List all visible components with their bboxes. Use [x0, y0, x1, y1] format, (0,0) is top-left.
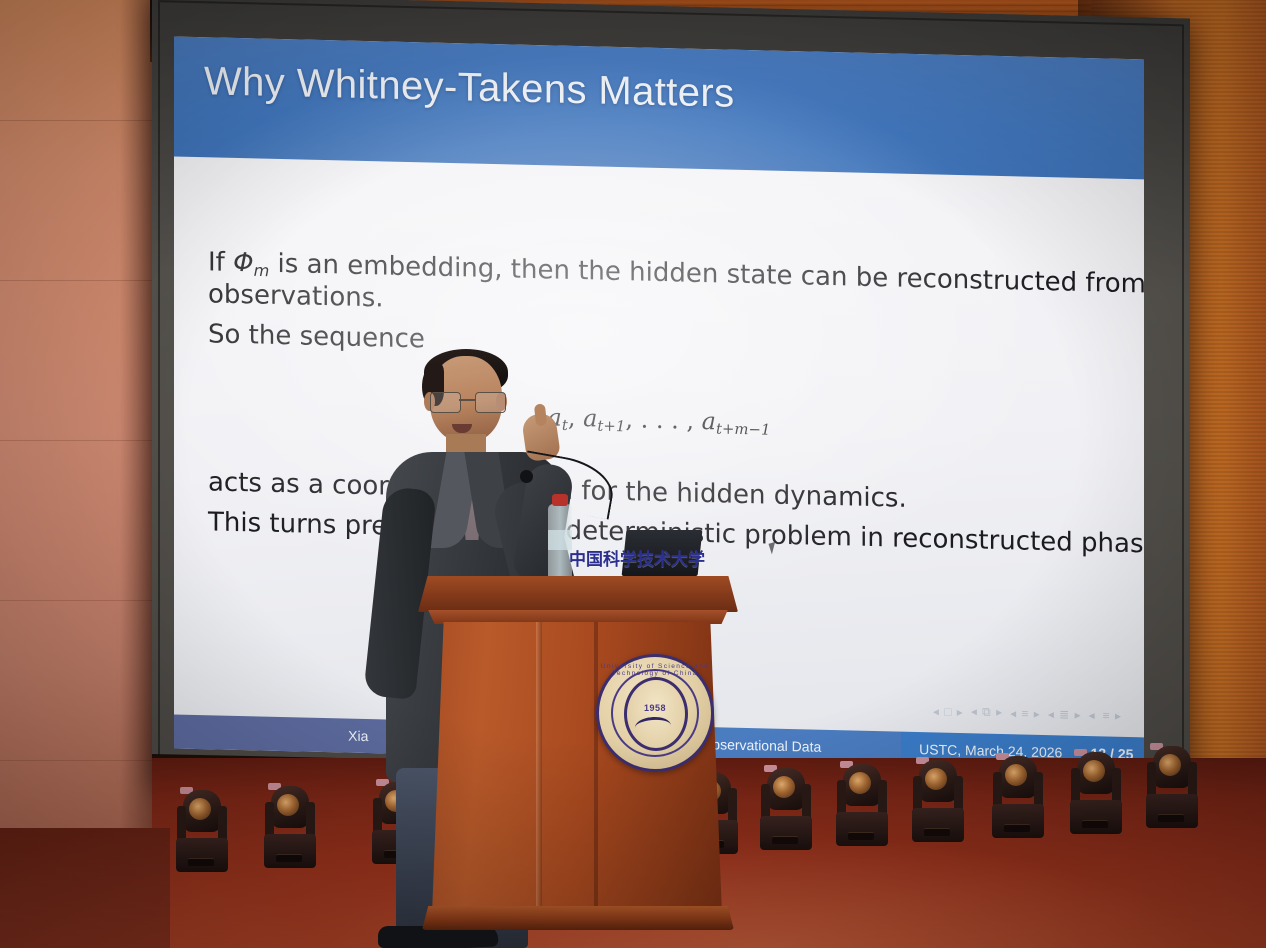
lectern-edge-highlight [536, 622, 542, 914]
slide-formula: at, at+1, . . . , at+m−1 [174, 395, 1144, 448]
lectern-apron [422, 610, 734, 624]
nav-symbol-1[interactable]: ◂ ⧉ ▸ [971, 704, 1003, 720]
stage-light [760, 764, 812, 850]
stage-floor-left [0, 828, 170, 948]
stage-light [836, 760, 888, 846]
lectern: 中国科学技术大学 University of Science and Techn… [418, 576, 738, 948]
water-bottle-cap [552, 494, 568, 506]
emblem-year: 1958 [599, 703, 711, 713]
stage-light [264, 782, 316, 868]
lectern-base [422, 906, 734, 930]
emblem-arc-text: University of Science and Technology of … [599, 663, 711, 677]
lectern-nameplate: 中国科学技术大学 [552, 544, 722, 570]
slide-title: Why Whitney-Takens Matters [204, 59, 735, 117]
nav-symbol-3[interactable]: ◂ ≣ ▸ [1048, 707, 1082, 722]
slide-body-line-2: observations. [208, 279, 384, 315]
slide-title-band: Why Whitney-Takens Matters [174, 37, 1144, 180]
nav-symbol-0[interactable]: ◂ □ ▸ [933, 704, 964, 719]
nav-symbol-4[interactable]: ◂ [1089, 708, 1096, 722]
stage-light [1070, 748, 1122, 834]
nav-symbol-2[interactable]: ◂ ≡ ▸ [1010, 706, 1041, 721]
speaker-finger [534, 403, 547, 426]
glasses-icon [430, 392, 504, 411]
lecture-hall-scene: Why Whitney-Takens Matters If Φm is an e… [0, 0, 1266, 948]
line1-suffix: is an embedding, then the hidden state c… [269, 249, 1144, 305]
nav-symbol-5[interactable]: ≡ ▸ [1103, 708, 1122, 722]
line1-prefix: If [208, 247, 233, 278]
stage-light [992, 752, 1044, 838]
phi-subscript: m [254, 261, 270, 280]
beamer-navigation-symbols[interactable]: ◂ □ ▸ ◂ ⧉ ▸ ◂ ≡ ▸ ◂ ≣ ▸ ◂ ≡ ▸ [933, 703, 1122, 722]
ustc-emblem-icon: University of Science and Technology of … [596, 654, 714, 772]
lectern-desktop [418, 576, 738, 612]
lectern-edge-shadow [594, 622, 598, 914]
stage-light [912, 756, 964, 842]
slide-body-line-3: So the sequence [208, 319, 425, 356]
phi-symbol: Φ [233, 248, 253, 278]
stage-light [176, 786, 228, 872]
microphone-capsule-icon [520, 470, 533, 483]
stage-light [1146, 742, 1198, 828]
